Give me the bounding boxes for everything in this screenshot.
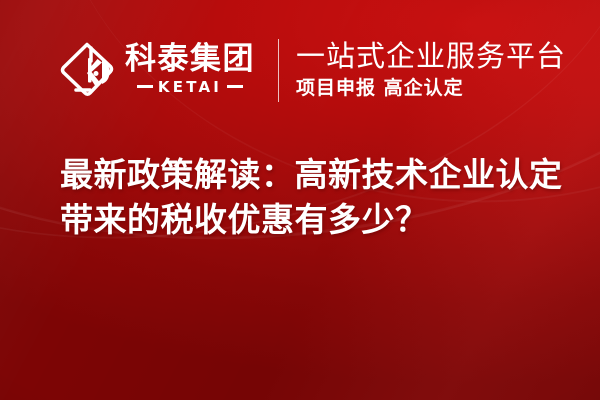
brand-name-latin-row: KETAI: [137, 78, 243, 96]
page-title-line-1: 最新政策解读：高新技术企业认定: [60, 152, 570, 197]
tagline-secondary: 项目申报 高企认定: [296, 78, 566, 100]
vertical-divider: [278, 39, 279, 102]
brand-wordmark: 科泰集团 KETAI: [125, 44, 255, 96]
ketai-diamond-monogram-icon: [60, 41, 114, 99]
wordmark-rule-right-icon: [227, 85, 243, 88]
brand-lockup[interactable]: 科泰集团 KETAI: [60, 41, 255, 99]
banner-header: 科泰集团 KETAI 一站式企业服务平台 项目申报 高企认定: [0, 0, 600, 140]
promo-banner: 科泰集团 KETAI 一站式企业服务平台 项目申报 高企认定 最新政策解读：高新…: [0, 0, 600, 400]
page-title-line-2: 带来的税收优惠有多少？: [60, 197, 570, 242]
tagline-primary: 一站式企业服务平台: [296, 40, 566, 72]
brand-name-cn: 科泰集团: [125, 44, 255, 76]
tagline-block: 一站式企业服务平台 项目申报 高企认定: [296, 40, 566, 99]
page-title: 最新政策解读：高新技术企业认定 带来的税收优惠有多少？: [60, 152, 570, 242]
brand-name-latin: KETAI: [158, 78, 222, 96]
wordmark-rule-left-icon: [137, 85, 153, 88]
